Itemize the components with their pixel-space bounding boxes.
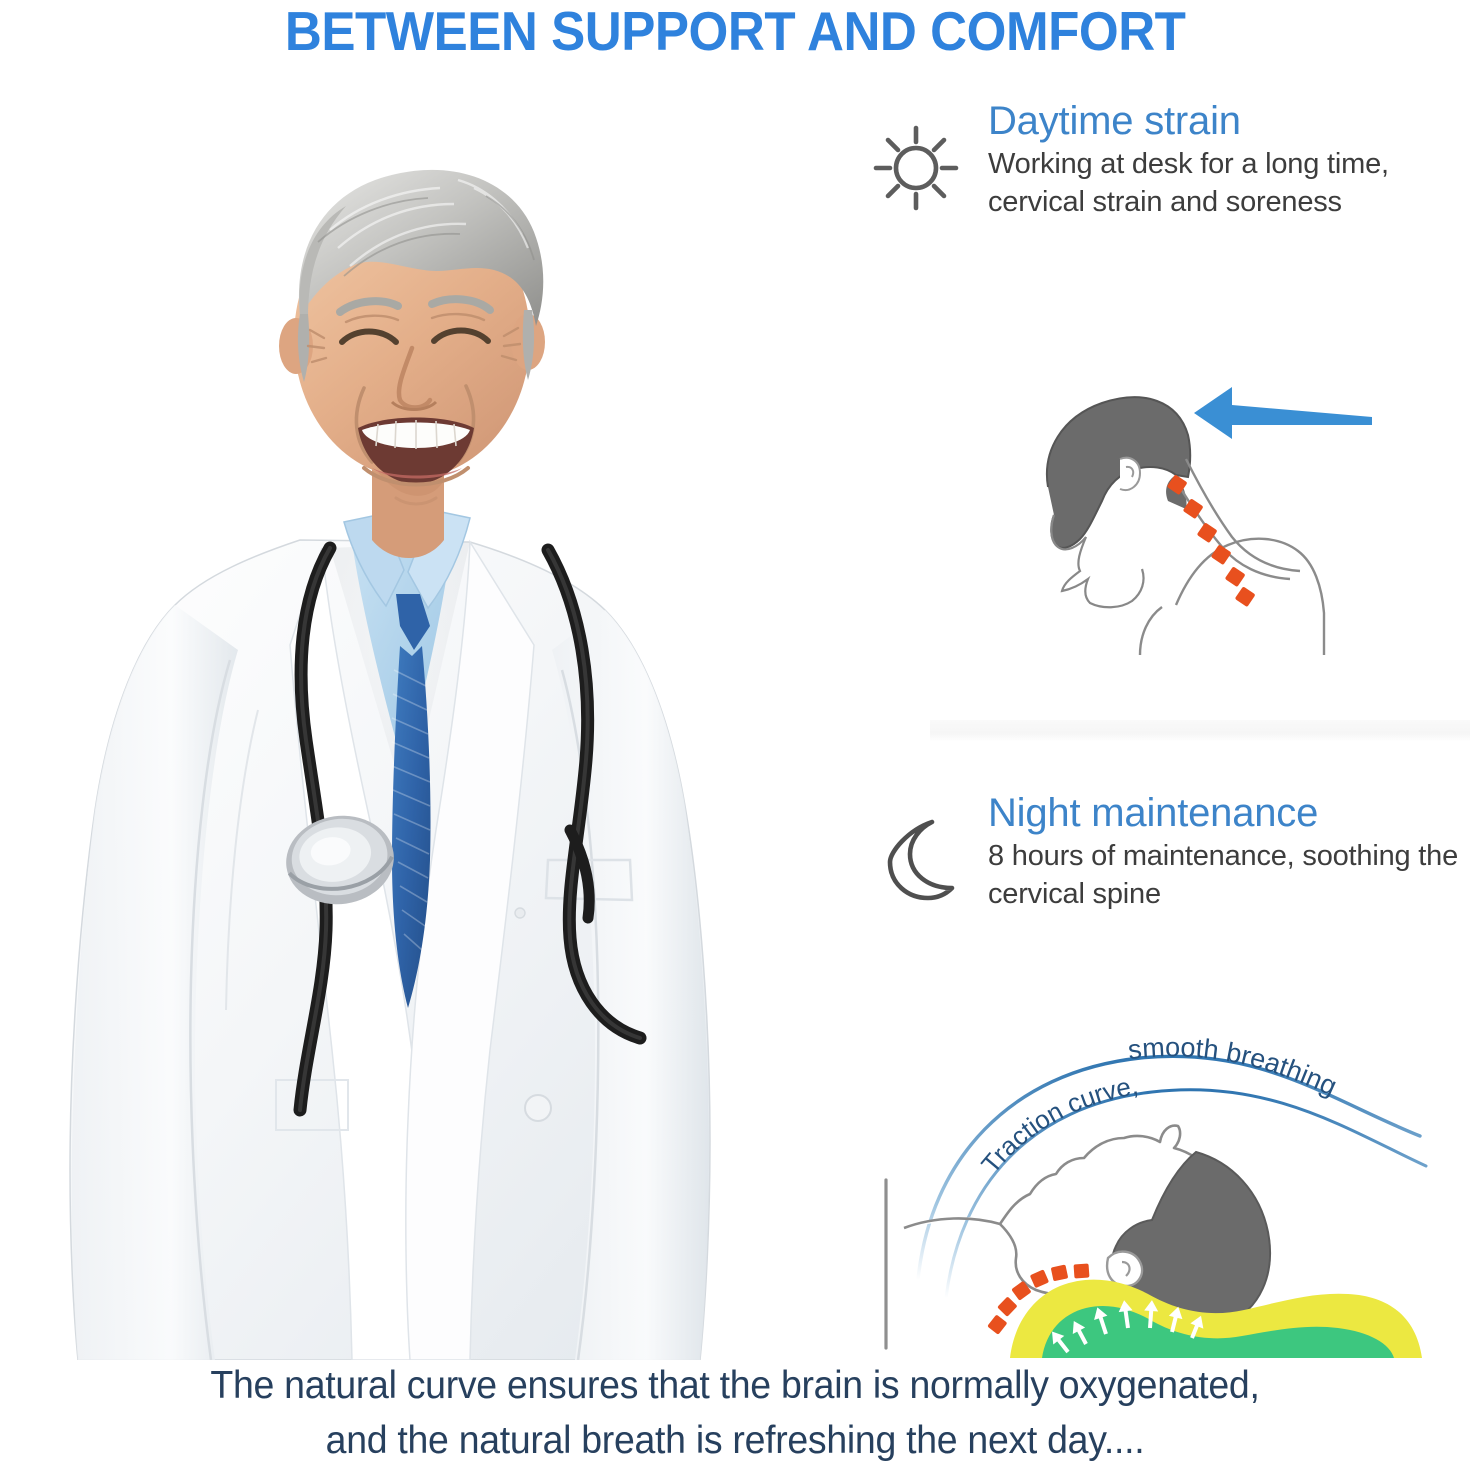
sun-icon <box>870 100 982 219</box>
page-title-bar: BETWEEN SUPPORT AND COMFORT <box>0 0 1470 62</box>
caption-line-2: and the natural breath is refreshing the… <box>29 1413 1440 1468</box>
feature-description: Working at desk for a long time, cervica… <box>988 146 1470 220</box>
feature-title: Daytime strain <box>988 100 1470 142</box>
feature-night-maintenance: Night maintenance 8 hours of maintenance… <box>870 790 1470 913</box>
neck-strain-diagram <box>980 355 1400 660</box>
pillow-support-diagram: smooth breathing Traction curve, <box>860 980 1470 1365</box>
feature-daytime-strain: Daytime strain Working at desk for a lon… <box>870 100 1470 221</box>
page-title: BETWEEN SUPPORT AND COMFORT <box>285 4 1186 59</box>
moon-icon <box>870 790 982 909</box>
doctor-photo <box>0 70 900 1360</box>
features-column: Daytime strain Working at desk for a lon… <box>870 100 1470 1360</box>
section-divider <box>930 720 1470 742</box>
feature-title: Night maintenance <box>988 792 1470 834</box>
feature-description: 8 hours of maintenance, soothing the cer… <box>988 838 1470 912</box>
bottom-caption: The natural curve ensures that the brain… <box>0 1358 1470 1469</box>
caption-line-1: The natural curve ensures that the brain… <box>29 1358 1440 1413</box>
